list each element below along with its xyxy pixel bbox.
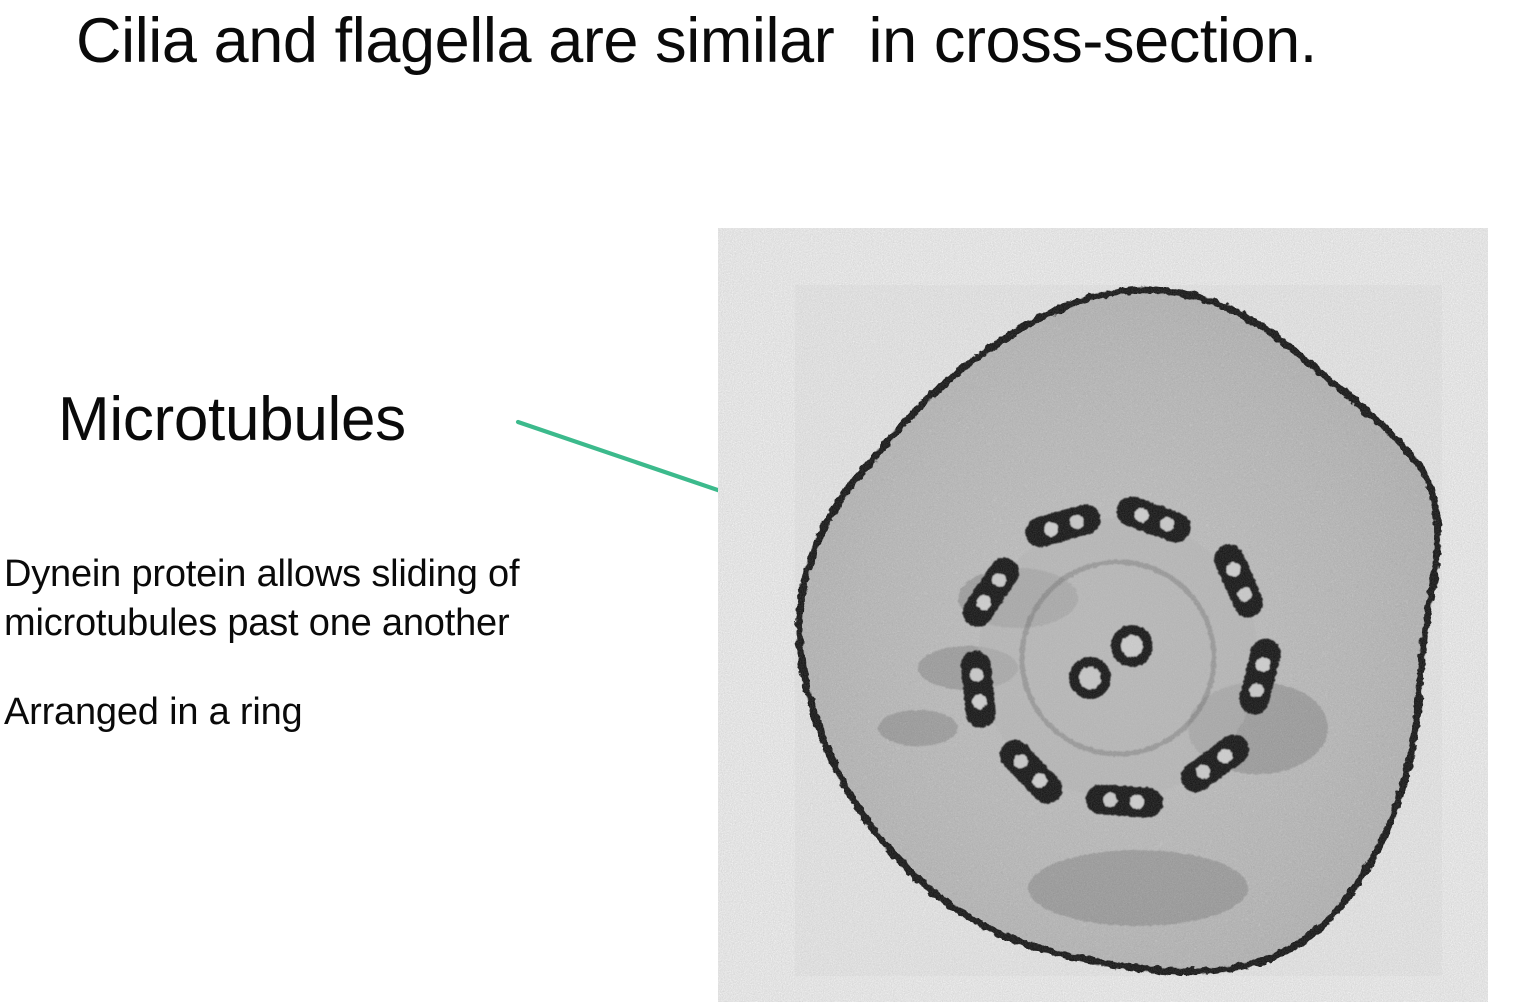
page-title: Cilia and flagella are similar in cross-…: [76, 8, 1532, 75]
section-heading-microtubules: Microtubules: [58, 389, 406, 451]
bullet-arranged-in-ring: Arranged in a ring: [4, 688, 604, 737]
electron-micrograph-image: [718, 228, 1488, 1002]
bullet-dynein-sliding: Dynein protein allows sliding of microtu…: [4, 550, 604, 648]
slide-canvas: Cilia and flagella are similar in cross-…: [0, 0, 1536, 1002]
